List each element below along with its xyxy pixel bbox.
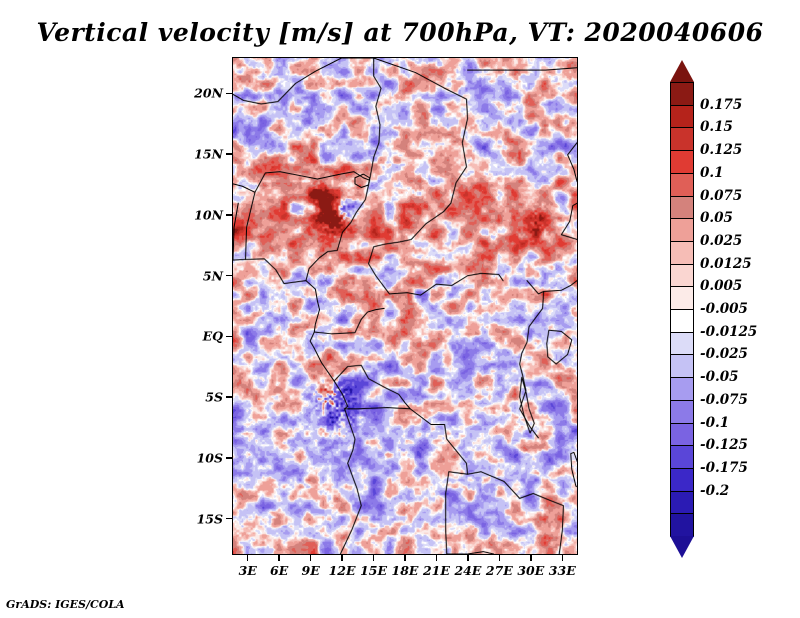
- page-title: Vertical velocity [m/s] at 700hPa, VT: 2…: [0, 18, 800, 47]
- x-axis-label: 21E: [423, 563, 450, 578]
- map-plot-area: [232, 57, 578, 555]
- x-axis-tick: [247, 555, 249, 561]
- colorbar-tick-label: 0.175: [700, 97, 742, 113]
- x-axis-tick: [341, 555, 343, 561]
- chart-root: Vertical velocity [m/s] at 700hPa, VT: 2…: [0, 0, 800, 618]
- colorbar-tick-label: -0.075: [700, 392, 748, 408]
- y-axis-tick: [226, 518, 232, 520]
- colorbar-band: [670, 218, 694, 242]
- colorbar-tick-label: -0.0125: [700, 324, 757, 340]
- y-axis-tick: [226, 214, 232, 216]
- colorbar-band: [670, 105, 694, 129]
- colorbar-tick-label: -0.005: [700, 301, 748, 317]
- x-axis-tick: [436, 555, 438, 561]
- colorbar-tick-label: 0.05: [700, 210, 733, 226]
- x-axis-label: 6E: [270, 563, 288, 578]
- colorbar-tick-label: -0.1: [700, 415, 729, 431]
- x-axis-label: 27E: [486, 563, 513, 578]
- y-axis-tick: [226, 457, 232, 459]
- y-axis-label: 15S: [197, 511, 223, 526]
- x-axis-tick: [278, 555, 280, 561]
- colorbar-band: [670, 468, 694, 492]
- colorbar-band: [670, 445, 694, 469]
- colorbar-tick-label: 0.15: [700, 119, 733, 135]
- colorbar-band: [670, 513, 694, 537]
- x-axis-tick: [562, 555, 564, 561]
- colorbar-tick-label: 0.005: [700, 278, 742, 294]
- y-axis-label: 5S: [205, 390, 223, 405]
- y-axis-label: 5N: [203, 268, 223, 283]
- x-axis-tick: [404, 555, 406, 561]
- y-axis-label: 15N: [194, 147, 223, 162]
- colorbar-band: [670, 309, 694, 333]
- colorbar-cap-max: [670, 60, 694, 82]
- x-axis-label: 18E: [392, 563, 419, 578]
- x-axis-tick: [373, 555, 375, 561]
- x-axis-label: 24E: [454, 563, 481, 578]
- y-axis-tick: [226, 93, 232, 95]
- colorbar-band: [670, 332, 694, 356]
- colorbar-band: [670, 423, 694, 447]
- colorbar-band: [670, 377, 694, 401]
- x-axis-tick: [499, 555, 501, 561]
- y-axis-tick: [226, 336, 232, 338]
- x-axis-label: 30E: [517, 563, 544, 578]
- colorbar-band: [670, 491, 694, 515]
- x-axis-label: 15E: [360, 563, 387, 578]
- country-borders-overlay: [233, 58, 577, 554]
- colorbar-band: [670, 241, 694, 265]
- colorbar-tick-label: -0.125: [700, 437, 748, 453]
- colorbar-tick-label: 0.125: [700, 142, 742, 158]
- colorbar-band: [670, 150, 694, 174]
- footer-credit: GrADS: IGES/COLA: [6, 598, 125, 611]
- x-axis-tick: [310, 555, 312, 561]
- colorbar-cap-min: [670, 536, 694, 558]
- y-axis-label: EQ: [203, 329, 223, 344]
- colorbar-tick-label: 0.0125: [700, 256, 752, 272]
- colorbar-band: [670, 286, 694, 310]
- colorbar-band: [670, 127, 694, 151]
- y-axis-tick: [226, 275, 232, 277]
- x-axis-label: 33E: [549, 563, 576, 578]
- colorbar-band: [670, 400, 694, 424]
- colorbar-tick-label: 0.1: [700, 165, 724, 181]
- y-axis-tick: [226, 153, 232, 155]
- y-axis-label: 20N: [194, 86, 223, 101]
- x-axis-tick: [530, 555, 532, 561]
- colorbar-band: [670, 173, 694, 197]
- colorbar-band: [670, 82, 694, 106]
- colorbar-tick-label: -0.05: [700, 369, 738, 385]
- colorbar: 0.1750.150.1250.10.0750.050.0250.01250.0…: [670, 60, 694, 558]
- y-axis-tick: [226, 396, 232, 398]
- x-axis-label: 12E: [329, 563, 356, 578]
- x-axis-label: 9E: [302, 563, 320, 578]
- x-axis-tick: [467, 555, 469, 561]
- colorbar-tick-label: 0.075: [700, 188, 742, 204]
- colorbar-tick-label: 0.025: [700, 233, 742, 249]
- colorbar-tick-label: -0.2: [700, 483, 729, 499]
- y-axis-label: 10N: [194, 207, 223, 222]
- colorbar-tick-label: -0.175: [700, 460, 748, 476]
- colorbar-band: [670, 264, 694, 288]
- colorbar-tick-label: -0.025: [700, 346, 748, 362]
- x-axis-label: 3E: [239, 563, 257, 578]
- y-axis-label: 10S: [197, 450, 223, 465]
- colorbar-band: [670, 196, 694, 220]
- colorbar-band: [670, 354, 694, 378]
